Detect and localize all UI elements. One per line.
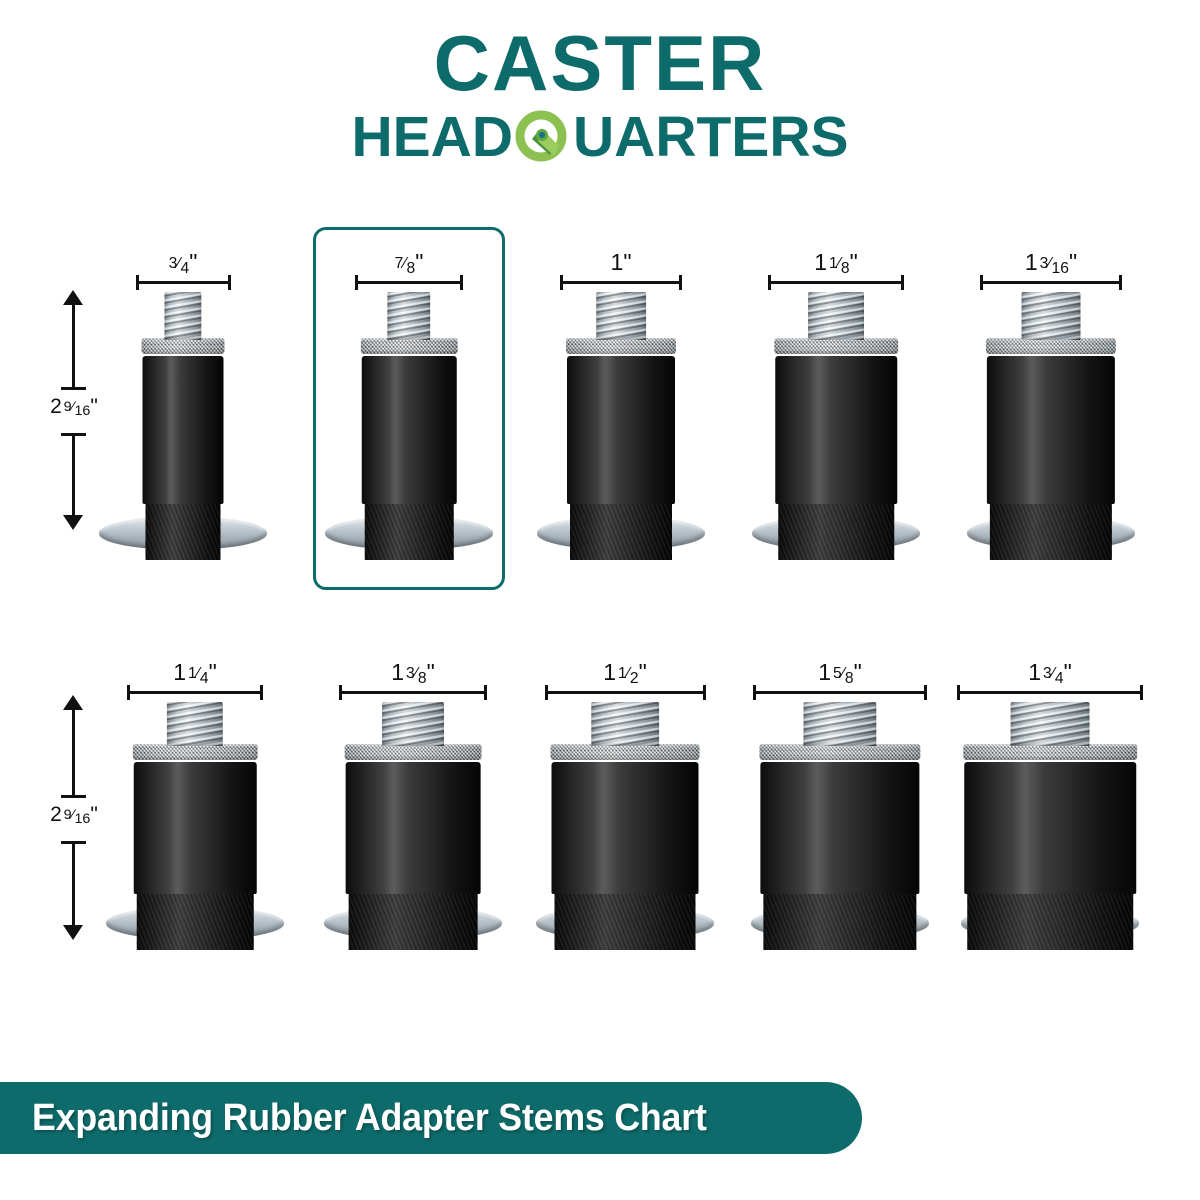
product-row-top: 2 9⁄16" 3⁄4"7⁄8"1"1 1⁄8"1 3⁄16" bbox=[0, 230, 1200, 630]
knurled-collar bbox=[759, 744, 920, 760]
rubber-body bbox=[567, 356, 675, 504]
diameter-label: 1 1⁄2" bbox=[545, 659, 706, 686]
dimension-cap-right bbox=[679, 275, 682, 290]
knurled-collar bbox=[345, 744, 482, 760]
dimension-line-horizontal bbox=[560, 281, 682, 284]
rubber-lower-section bbox=[349, 892, 478, 950]
product-cell-top-2[interactable]: 1" bbox=[530, 230, 712, 586]
rubber-body bbox=[987, 356, 1115, 504]
diameter-dimension: 1 1⁄4" bbox=[127, 658, 264, 694]
diameter-label: 1 1⁄4" bbox=[127, 659, 264, 686]
rubber-lower-section bbox=[763, 892, 916, 950]
dimension-cap-right bbox=[260, 685, 263, 700]
knurled-collar bbox=[142, 338, 225, 354]
rubber-body bbox=[775, 356, 897, 504]
dimension-cap-right bbox=[228, 275, 231, 290]
diameter-dimension: 1 3⁄4" bbox=[957, 658, 1143, 694]
knurled-collar bbox=[133, 744, 258, 760]
dimension-line-horizontal bbox=[957, 691, 1143, 694]
diameter-dimension: 1 1⁄2" bbox=[545, 658, 706, 694]
diameter-label: 1 3⁄16" bbox=[980, 249, 1122, 276]
product-row-bottom: 2 9⁄16" 1 1⁄4"1 3⁄8"1 1⁄2"1 5⁄8"1 3⁄4" bbox=[0, 640, 1200, 970]
rubber-lower-section bbox=[146, 502, 221, 560]
dimension-line-horizontal bbox=[768, 281, 904, 284]
brand-head-text: HEAD bbox=[351, 109, 513, 166]
rubber-lower-section bbox=[137, 892, 254, 950]
dimension-cap-left bbox=[127, 685, 130, 700]
dimension-tick-upper bbox=[61, 795, 86, 798]
product-cell-top-4[interactable]: 1 3⁄16" bbox=[960, 230, 1142, 586]
rubber-lower-section bbox=[778, 502, 894, 560]
dimension-cap-left bbox=[768, 275, 771, 290]
dimension-cap-left bbox=[560, 275, 563, 290]
rubber-body bbox=[143, 356, 224, 504]
rubber-lower-section bbox=[967, 892, 1133, 950]
diameter-dimension: 1 3⁄16" bbox=[980, 248, 1122, 284]
dimension-line-upper bbox=[72, 708, 75, 795]
dimension-tick-upper bbox=[61, 387, 86, 390]
dimension-line-horizontal bbox=[980, 281, 1122, 284]
chart-title-banner: Expanding Rubber Adapter Stems Chart bbox=[0, 1082, 862, 1154]
arrow-down-icon bbox=[63, 925, 83, 940]
diameter-dimension: 1 3⁄8" bbox=[339, 658, 488, 694]
knurled-collar bbox=[566, 338, 676, 354]
product-cell-bot-0[interactable]: 1 1⁄4" bbox=[100, 640, 290, 976]
rubber-lower-section bbox=[555, 892, 696, 950]
brand-quarters-text: UARTERS bbox=[573, 109, 849, 166]
diameter-label: 1 1⁄8" bbox=[768, 249, 904, 276]
caster-wheel-q-icon bbox=[514, 108, 572, 166]
dimension-cap-left bbox=[339, 685, 342, 700]
dimension-cap-left bbox=[136, 275, 139, 290]
rubber-lower-section bbox=[990, 502, 1112, 560]
diameter-label: 3⁄4" bbox=[136, 249, 231, 276]
threaded-bolt bbox=[164, 292, 201, 340]
product-cell-bot-4[interactable]: 1 3⁄4" bbox=[955, 640, 1145, 976]
threaded-bolt bbox=[596, 292, 646, 340]
chart-title-text: Expanding Rubber Adapter Stems Chart bbox=[32, 1097, 707, 1140]
diameter-dimension: 1" bbox=[560, 248, 682, 284]
dimension-cap-right bbox=[703, 685, 706, 700]
threaded-bolt bbox=[591, 702, 659, 746]
diameter-dimension: 3⁄4" bbox=[136, 248, 231, 284]
product-cell-top-0[interactable]: 3⁄4" bbox=[92, 230, 274, 586]
knurled-collar bbox=[551, 744, 700, 760]
dimension-line-upper bbox=[72, 303, 75, 387]
dimension-cap-right bbox=[901, 275, 904, 290]
dimension-cap-left bbox=[980, 275, 983, 290]
chart-page: CASTER HEAD UARTERS 2 9⁄16" 3⁄4"7⁄8"1"1 … bbox=[0, 0, 1200, 1200]
threaded-bolt bbox=[382, 702, 444, 746]
dimension-cap-right bbox=[484, 685, 487, 700]
dimension-line-horizontal bbox=[136, 281, 231, 284]
brand-name-primary: CASTER bbox=[0, 24, 1200, 102]
diameter-dimension: 1 5⁄8" bbox=[753, 658, 926, 694]
product-cell-bot-1[interactable]: 1 3⁄8" bbox=[318, 640, 508, 976]
rubber-body bbox=[134, 762, 257, 894]
dimension-cap-left bbox=[545, 685, 548, 700]
dimension-line-lower bbox=[72, 844, 75, 928]
highlight-box-7-8[interactable] bbox=[313, 227, 505, 590]
rubber-body bbox=[552, 762, 699, 894]
diameter-label: 1 3⁄8" bbox=[339, 659, 488, 686]
threaded-bolt bbox=[803, 702, 876, 746]
threaded-bolt bbox=[167, 702, 223, 746]
dimension-cap-right bbox=[924, 685, 927, 700]
threaded-bolt bbox=[1011, 702, 1090, 746]
threaded-bolt bbox=[1022, 292, 1081, 340]
dimension-cap-left bbox=[753, 685, 756, 700]
rubber-body bbox=[346, 762, 481, 894]
diameter-label: 1" bbox=[560, 249, 682, 276]
product-cell-bot-3[interactable]: 1 5⁄8" bbox=[745, 640, 935, 976]
knurled-collar bbox=[963, 744, 1137, 760]
diameter-label: 1 3⁄4" bbox=[957, 659, 1143, 686]
diameter-dimension: 1 1⁄8" bbox=[768, 248, 904, 284]
dimension-cap-left bbox=[957, 685, 960, 700]
diameter-label: 1 5⁄8" bbox=[753, 659, 926, 686]
rubber-body bbox=[760, 762, 919, 894]
arrow-down-icon bbox=[63, 515, 83, 530]
rubber-lower-section bbox=[570, 502, 672, 560]
rubber-body bbox=[964, 762, 1136, 894]
brand-logo: CASTER HEAD UARTERS bbox=[0, 24, 1200, 166]
knurled-collar bbox=[986, 338, 1116, 354]
dimension-line-horizontal bbox=[753, 691, 926, 694]
dimension-line-lower bbox=[72, 436, 75, 517]
dimension-line-horizontal bbox=[127, 691, 264, 694]
knurled-collar bbox=[774, 338, 898, 354]
dimension-cap-right bbox=[1119, 275, 1122, 290]
threaded-bolt bbox=[808, 292, 864, 340]
dimension-line-horizontal bbox=[545, 691, 706, 694]
product-cell-bot-2[interactable]: 1 1⁄2" bbox=[530, 640, 720, 976]
product-cell-top-3[interactable]: 1 1⁄8" bbox=[745, 230, 927, 586]
dimension-cap-right bbox=[1140, 685, 1143, 700]
brand-name-secondary: HEAD UARTERS bbox=[351, 108, 848, 166]
dimension-line-horizontal bbox=[339, 691, 488, 694]
